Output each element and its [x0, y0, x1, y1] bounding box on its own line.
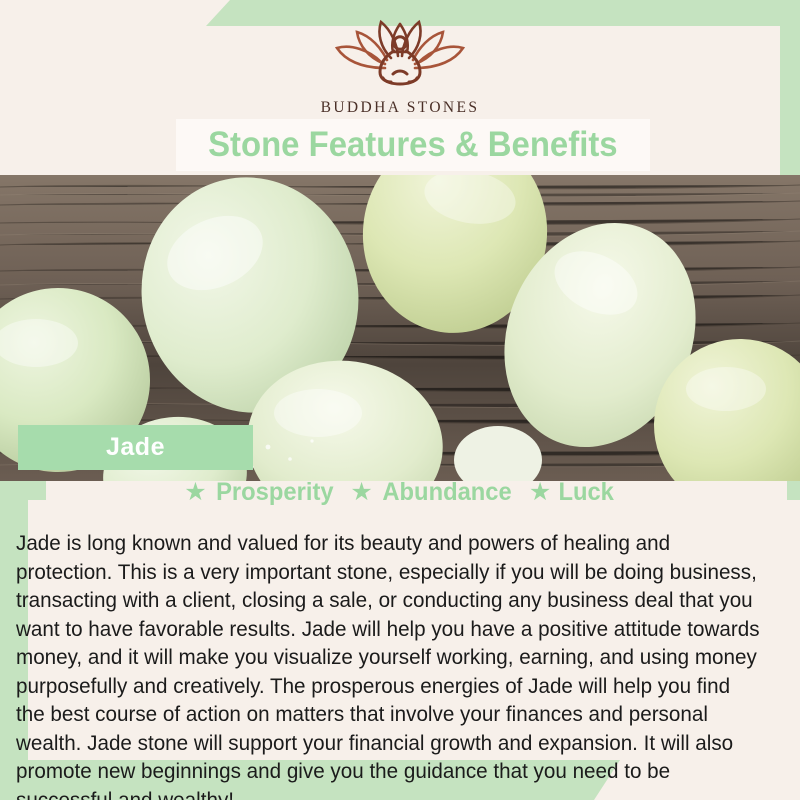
benefit-label: Prosperity	[216, 478, 333, 507]
benefit-label: Luck	[559, 478, 614, 507]
star-icon: ★	[184, 480, 206, 505]
title-banner: Stone Features & Benefits	[176, 119, 650, 171]
benefit-label: Abundance	[382, 478, 511, 507]
brand-name: BUDDHA STONES	[321, 99, 480, 117]
benefits-list: ★ Prosperity ★ Abundance ★ Luck	[0, 478, 800, 507]
brand-logo: BUDDHA STONES	[0, 18, 800, 118]
stone-name: Jade	[106, 433, 165, 462]
stone-name-banner: Jade	[18, 425, 253, 470]
stone-info-card: BUDDHA STONES Stone Features & Benefits	[0, 0, 800, 800]
stone-description: Jade is long known and valued for its be…	[16, 529, 761, 800]
page-title: Stone Features & Benefits	[208, 125, 618, 165]
benefit-item-prosperity: ★ Prosperity	[184, 478, 336, 507]
star-icon: ★	[350, 480, 372, 505]
benefit-item-abundance: ★ Abundance	[350, 478, 515, 507]
benefit-item-luck: ★ Luck	[529, 478, 616, 507]
lotus-meditation-icon	[325, 18, 475, 95]
star-icon: ★	[529, 480, 551, 505]
